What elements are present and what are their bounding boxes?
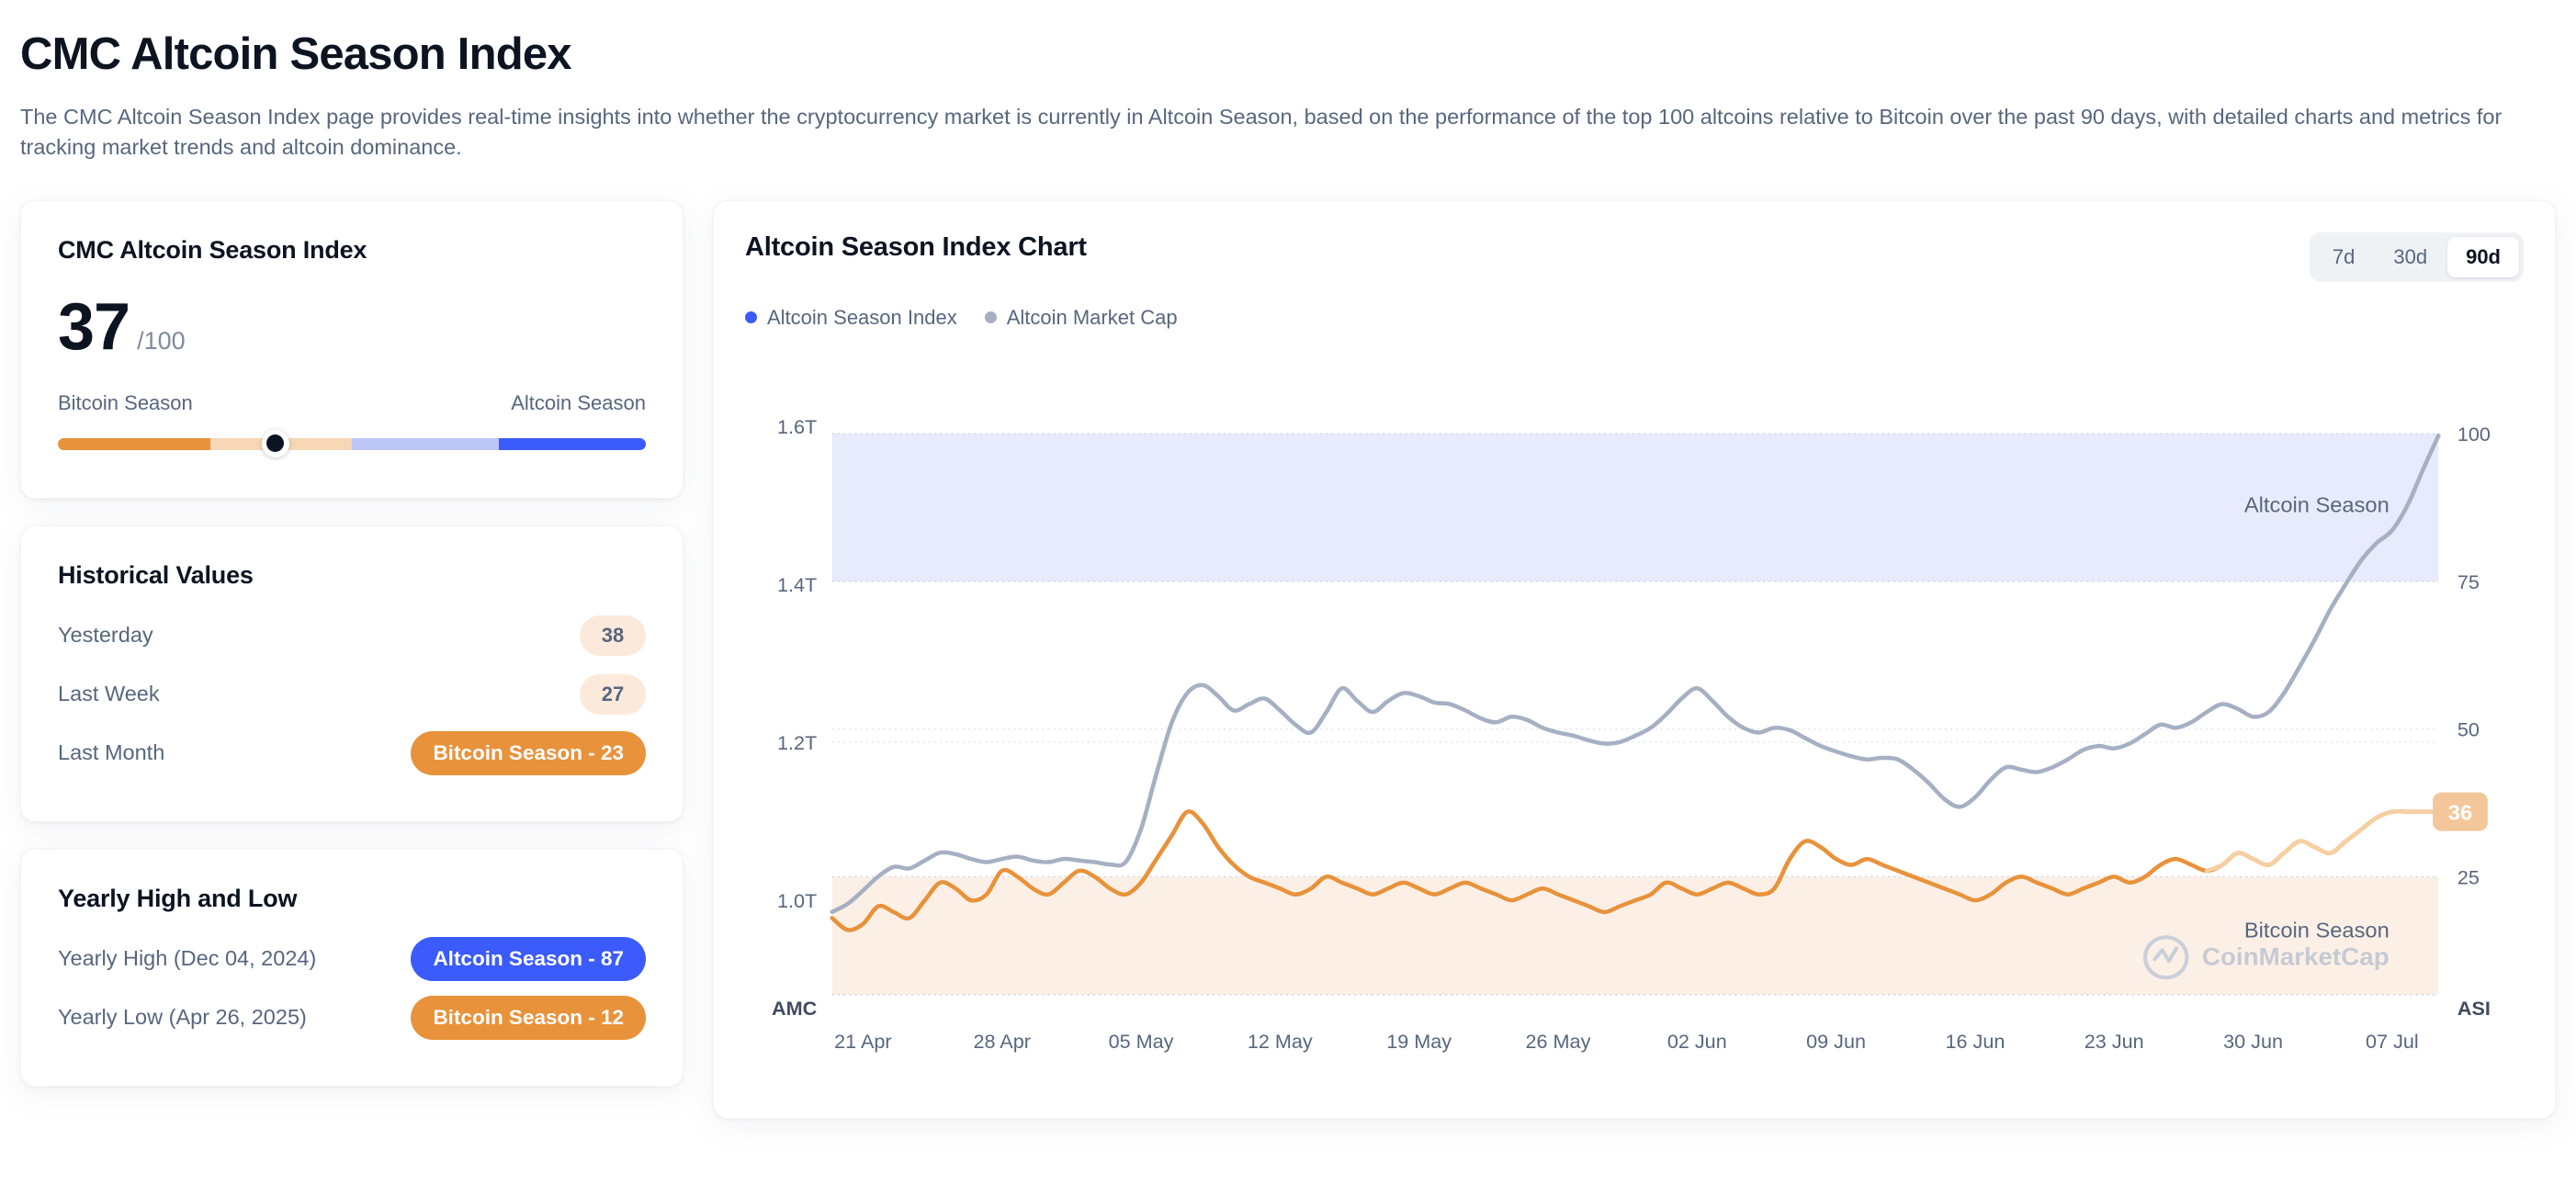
y-axis-right-tick: 25: [2457, 866, 2480, 888]
table-row: Yearly Low (Apr 26, 2025) Bitcoin Season…: [58, 988, 646, 1047]
page-description: The CMC Altcoin Season Index page provid…: [20, 102, 2556, 164]
legend-label: Altcoin Season Index: [767, 306, 957, 330]
main-content: CMC Altcoin Season Index 37 /100 Bitcoin…: [20, 200, 2556, 1119]
x-axis-tick: 16 Jun: [1945, 1031, 2005, 1053]
altcoin-season-index-chart-card: Altcoin Season Index Chart 7d 30d 90d Al…: [713, 200, 2556, 1119]
status-badge: Bitcoin Season - 23: [411, 731, 646, 775]
x-axis-tick: 09 Jun: [1806, 1031, 1866, 1053]
season-gauge[interactable]: [58, 430, 646, 457]
chart-line-asi-tail: [2207, 811, 2438, 871]
chart-header: Altcoin Season Index Chart 7d 30d 90d: [745, 232, 2524, 282]
range-button-90d[interactable]: 90d: [2447, 237, 2519, 277]
range-button-30d[interactable]: 30d: [2375, 237, 2446, 277]
svg-text:36: 36: [2448, 800, 2472, 824]
chart-title: Altcoin Season Index Chart: [745, 232, 1087, 263]
range-button-7d[interactable]: 7d: [2314, 237, 2373, 277]
row-label: Last Week: [58, 682, 160, 706]
y-axis-right-tick: 75: [2457, 571, 2480, 593]
status-badge: 27: [580, 674, 646, 715]
y-axis-left-label: AMC: [772, 998, 817, 1020]
y-axis-left-tick: 1.6T: [777, 416, 817, 438]
historical-values-title: Historical Values: [58, 561, 646, 590]
y-axis-left-tick: 1.0T: [777, 890, 817, 912]
gauge-label-altcoin-season: Altcoin Season: [511, 391, 646, 415]
x-axis-tick: 05 May: [1109, 1031, 1174, 1053]
x-axis-tick: 21 Apr: [834, 1031, 891, 1053]
left-column: CMC Altcoin Season Index 37 /100 Bitcoin…: [20, 200, 684, 1087]
row-label: Yearly High (Dec 04, 2024): [58, 946, 316, 971]
historical-values-card: Historical Values Yesterday 38 Last Week…: [20, 525, 684, 822]
x-axis-tick: 19 May: [1386, 1031, 1452, 1053]
status-badge: 38: [580, 615, 646, 656]
index-score-value: 37: [58, 294, 130, 360]
x-axis-tick: 28 Apr: [973, 1031, 1030, 1053]
gauge-labels: Bitcoin Season Altcoin Season: [58, 391, 646, 415]
chart-legend: Altcoin Season Index Altcoin Market Cap: [745, 306, 2524, 330]
row-label: Yesterday: [58, 623, 153, 648]
table-row: Last Week 27: [58, 665, 646, 724]
row-label: Last Month: [58, 740, 164, 765]
y-axis-right-label: ASI: [2457, 998, 2491, 1020]
legend-label: Altcoin Market Cap: [1007, 306, 1178, 330]
x-axis-tick: 30 Jun: [2223, 1031, 2283, 1053]
svg-text:CoinMarketCap: CoinMarketCap: [2202, 942, 2390, 970]
row-label: Yearly Low (Apr 26, 2025): [58, 1005, 307, 1030]
table-row: Yesterday 38: [58, 606, 646, 665]
chart-band-label-altcoin-season: Altcoin Season: [2244, 492, 2390, 516]
altcoin-season-index-page: CMC Altcoin Season Index The CMC Altcoin…: [0, 0, 2576, 1196]
legend-dot-icon: [985, 311, 997, 323]
chart-band-altcoin: [832, 434, 2439, 581]
legend-item-altcoin-season-index[interactable]: Altcoin Season Index: [745, 306, 957, 330]
status-badge: Bitcoin Season - 12: [411, 996, 646, 1040]
index-card-title: CMC Altcoin Season Index: [58, 236, 646, 265]
status-badge: Altcoin Season - 87: [411, 937, 646, 981]
y-axis-left-tick: 1.4T: [777, 574, 817, 596]
chart-current-value-badge: 36: [2433, 792, 2488, 830]
x-axis-tick: 23 Jun: [2085, 1031, 2144, 1053]
table-row: Yearly High (Dec 04, 2024) Altcoin Seaso…: [58, 930, 646, 988]
x-axis-tick: 12 May: [1248, 1031, 1313, 1053]
x-axis-tick: 02 Jun: [1667, 1031, 1727, 1053]
x-axis-tick: 07 Jul: [2366, 1031, 2419, 1053]
cmc-altcoin-season-index-card: CMC Altcoin Season Index 37 /100 Bitcoin…: [20, 200, 684, 499]
index-score: 37 /100: [58, 294, 646, 360]
chart-plot-area[interactable]: Altcoin SeasonBitcoin SeasonCoinMarketCa…: [745, 352, 2524, 1078]
right-column: Altcoin Season Index Chart 7d 30d 90d Al…: [713, 200, 2556, 1119]
chart-band-label-bitcoin-season: Bitcoin Season: [2244, 918, 2390, 942]
gauge-knob[interactable]: [262, 430, 289, 457]
table-row: Last Month Bitcoin Season - 23: [58, 724, 646, 783]
yearly-high-low-card: Yearly High and Low Yearly High (Dec 04,…: [20, 849, 684, 1087]
legend-item-altcoin-market-cap[interactable]: Altcoin Market Cap: [985, 306, 1178, 330]
range-selector[interactable]: 7d 30d 90d: [2310, 232, 2524, 282]
y-axis-right-tick: 100: [2457, 423, 2491, 446]
yearly-high-low-title: Yearly High and Low: [58, 885, 646, 913]
chart-band-bitcoin: [832, 876, 2439, 995]
y-axis-right-tick: 50: [2457, 718, 2480, 740]
gauge-label-bitcoin-season: Bitcoin Season: [58, 391, 193, 415]
x-axis-tick: 26 May: [1526, 1031, 1591, 1053]
index-score-max: /100: [137, 327, 186, 355]
gauge-track: [58, 438, 646, 450]
chart-svg[interactable]: Altcoin SeasonBitcoin SeasonCoinMarketCa…: [745, 352, 2524, 1078]
page-title: CMC Altcoin Season Index: [20, 0, 2556, 82]
y-axis-left-tick: 1.2T: [777, 732, 817, 754]
legend-dot-icon: [745, 311, 757, 323]
